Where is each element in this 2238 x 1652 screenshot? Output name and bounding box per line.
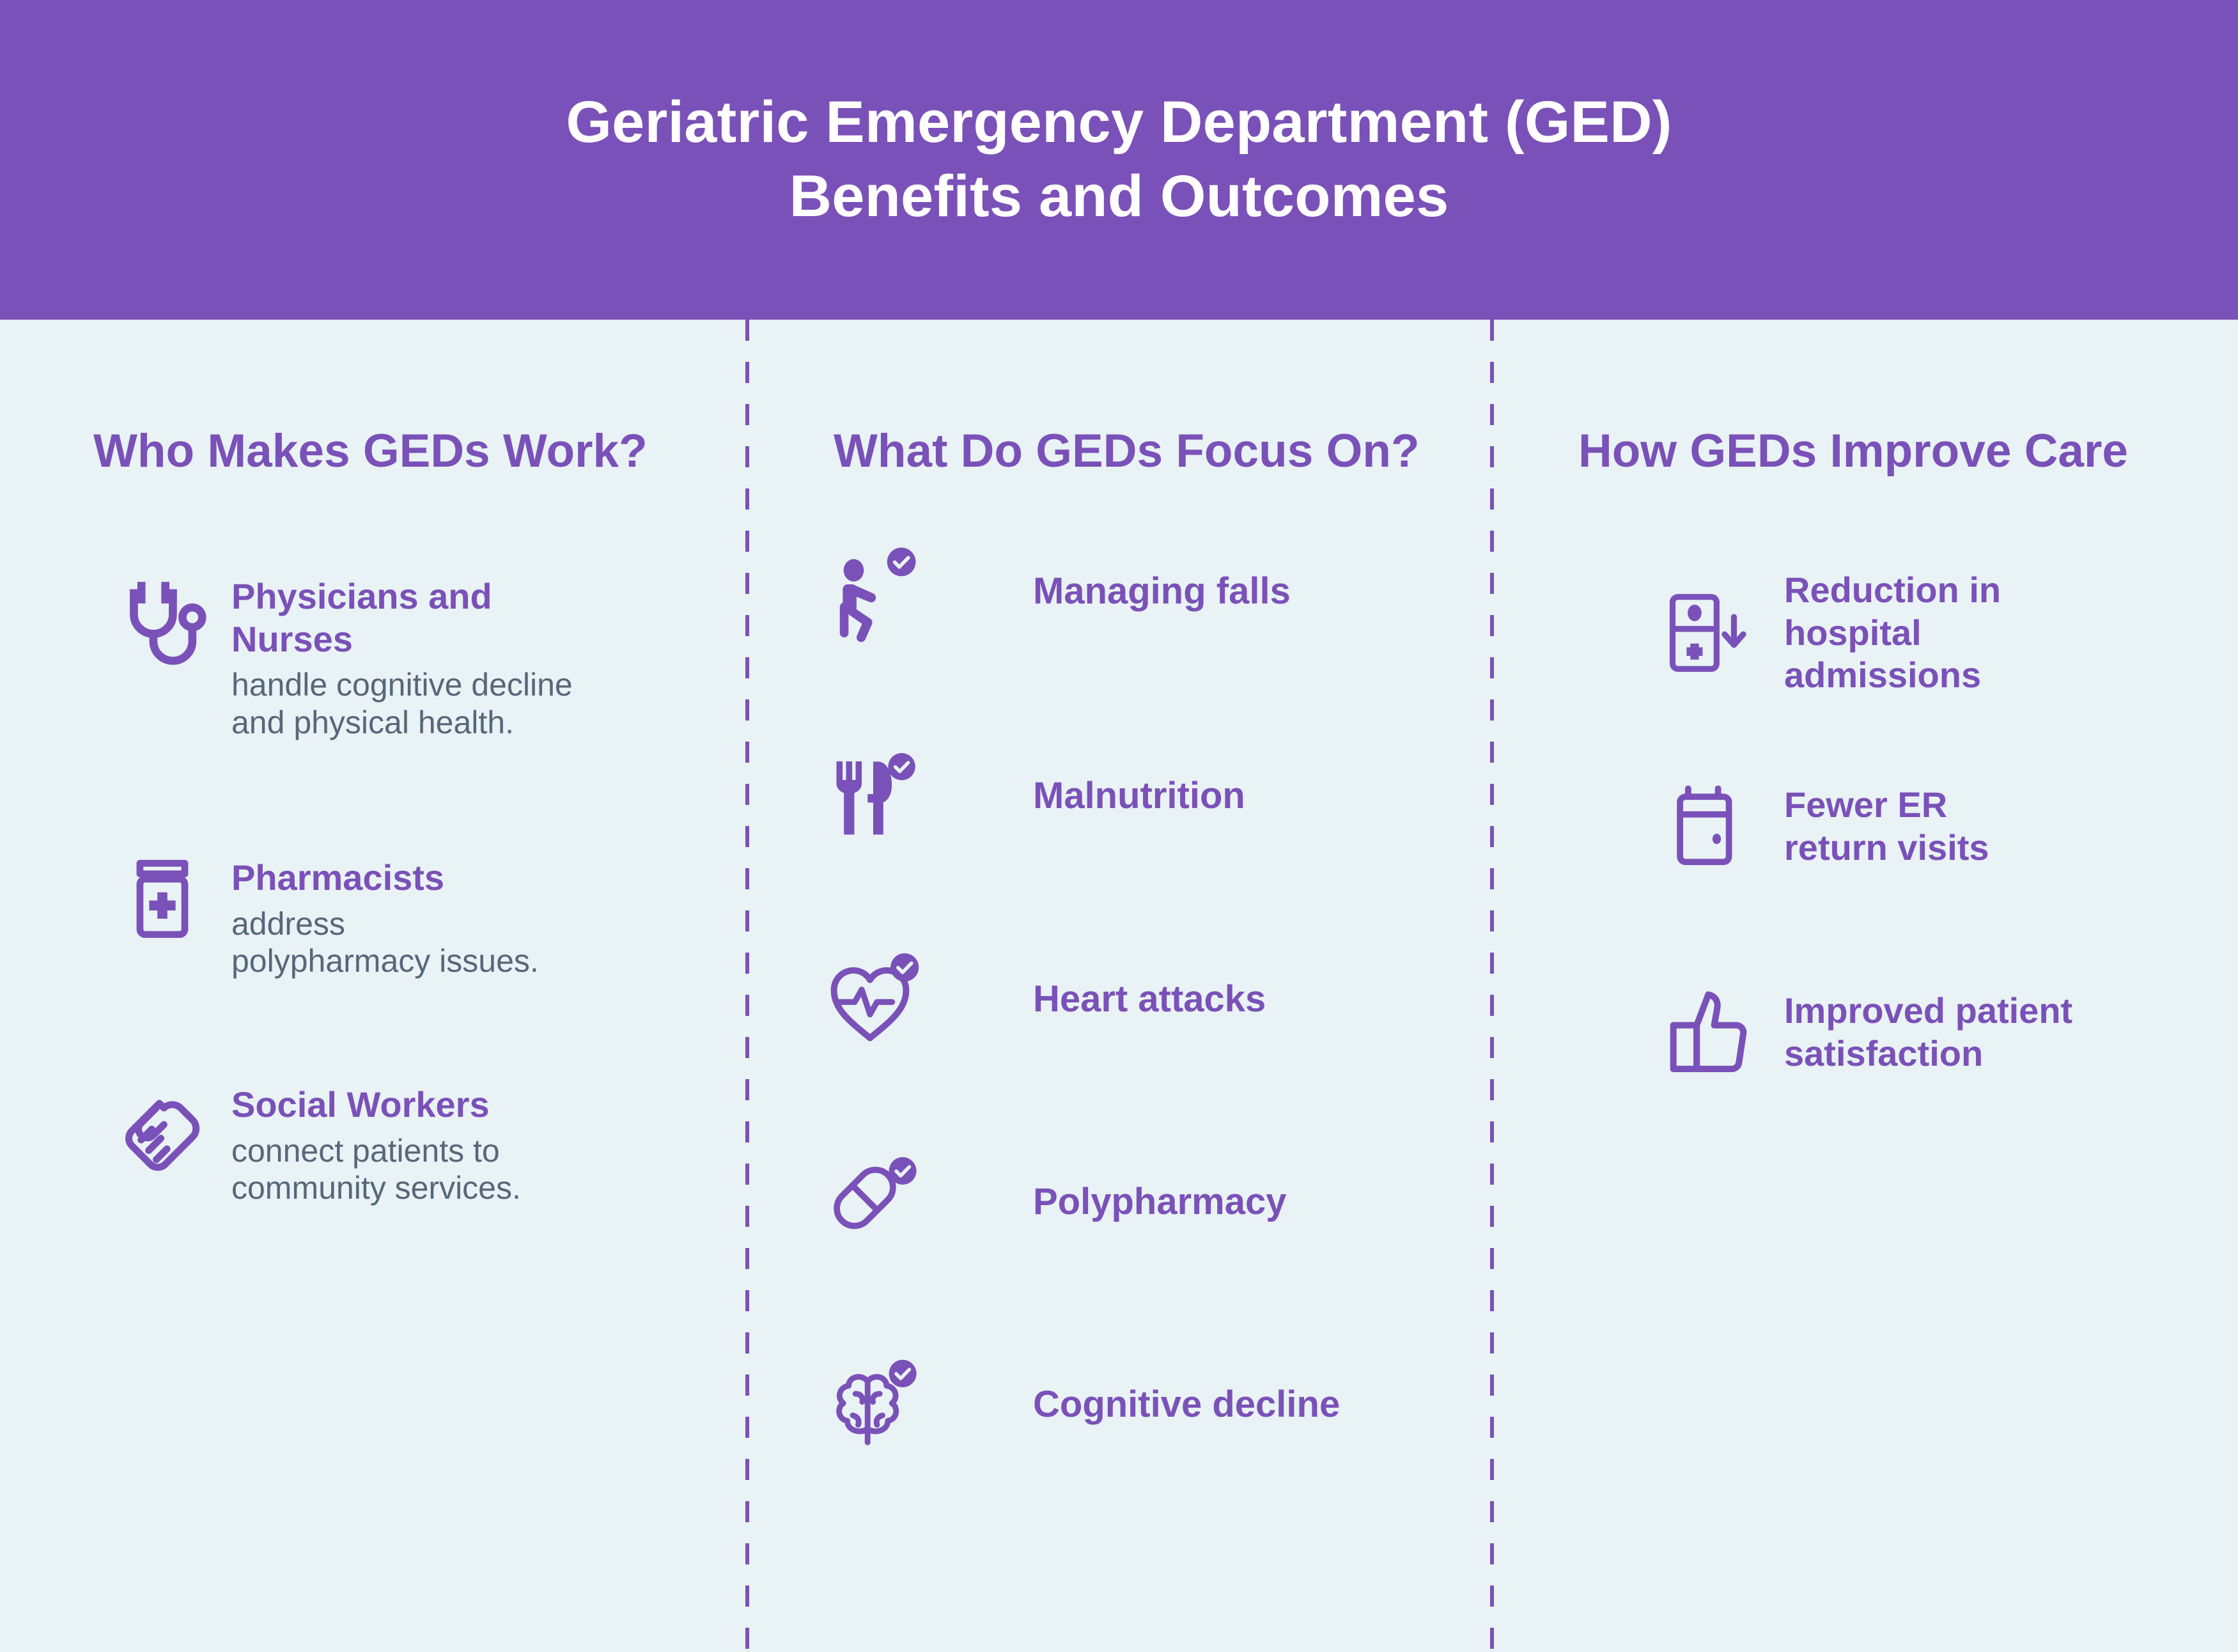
poster-title-line-2: Benefits and Outcomes (789, 160, 1449, 234)
list-item-label: Polypharmacy (1033, 1181, 1287, 1222)
column-2-heading: What Do GEDs Focus On? (834, 426, 1420, 477)
column-1-heading: Who Makes GEDs Work? (93, 426, 648, 477)
stethoscope-icon (109, 575, 216, 683)
column-how-geds-improve-care: How GEDs Improve Care Reduction (1494, 320, 2238, 1652)
list-item: Improved patient satisfaction (1660, 981, 2072, 1084)
list-item-label: Heart attacks (1033, 979, 1266, 1020)
list-item-label: Improved patient satisfaction (1784, 990, 2072, 1075)
brain-icon (828, 1350, 944, 1459)
list-item-title: Pharmacists (231, 857, 539, 900)
falling-person-icon (828, 537, 944, 646)
list-item-label: Cognitive decline (1033, 1384, 1340, 1425)
list-item: Cognitive decline (828, 1350, 1340, 1459)
list-item: Reduction in hospital admissions (1660, 569, 2001, 697)
handshake-icon (109, 1084, 216, 1191)
list-item: Polypharmacy (828, 1148, 1287, 1256)
list-item-label: Malnutrition (1033, 775, 1245, 816)
list-item: Heart attacks (828, 945, 1266, 1054)
list-item-label: Fewer ER return visits (1784, 784, 1989, 869)
list-item: Social Workers connect patients to commu… (109, 1084, 521, 1207)
list-item-description: connect patients to community services. (231, 1132, 521, 1207)
list-item-title: Physicians and Nurses (231, 575, 573, 660)
poster-header: Geriatric Emergency Department (GED) Ben… (0, 0, 2238, 320)
thumbs-up-icon (1660, 981, 1762, 1084)
column-what-do-geds-focus-on: What Do GEDs Focus On? Managing falls (749, 320, 1490, 1652)
column-3-heading: How GEDs Improve Care (1578, 426, 2128, 477)
list-item: Malnutrition (828, 742, 1245, 850)
list-item-description: handle cognitive decline and physical he… (231, 666, 573, 741)
pill-bottle-icon (109, 857, 216, 964)
list-item: Managing falls (828, 537, 1291, 646)
fork-knife-icon (828, 742, 944, 850)
list-item-label: Reduction in hospital admissions (1784, 569, 2001, 697)
list-item: Pharmacists address polypharmacy issues. (109, 857, 539, 980)
poster-title-line-1: Geriatric Emergency Department (GED) (566, 86, 1672, 160)
capsule-icon (828, 1148, 944, 1256)
list-item: Physicians and Nurses handle cognitive d… (109, 575, 573, 741)
infographic-poster: Geriatric Emergency Department (GED) Ben… (0, 0, 2238, 1652)
list-item-description: address polypharmacy issues. (231, 905, 539, 980)
er-door-icon (1660, 775, 1762, 878)
list-item-title: Social Workers (231, 1084, 521, 1126)
hospital-admission-down-icon (1660, 582, 1762, 684)
heart-pulse-icon (828, 945, 944, 1054)
list-item-label: Managing falls (1033, 571, 1291, 612)
list-item: Fewer ER return visits (1660, 775, 1989, 878)
column-who-makes-geds-work: Who Makes GEDs Work? Physicians and Nurs… (0, 320, 745, 1652)
